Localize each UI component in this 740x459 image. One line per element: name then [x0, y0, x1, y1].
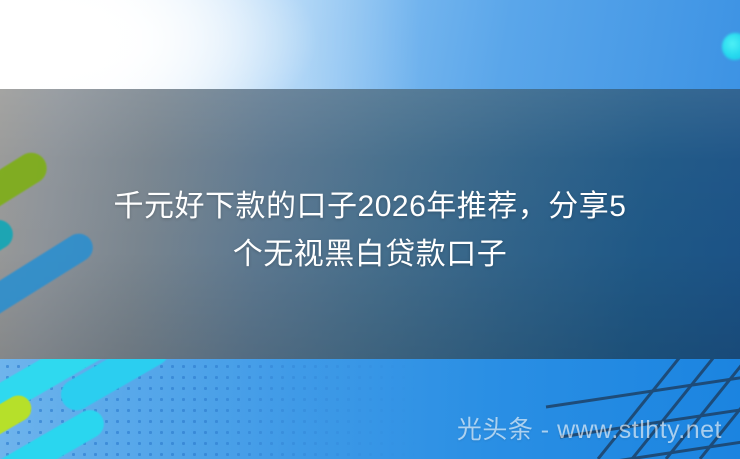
page-title: 千元好下款的口子2026年推荐，分享5 个无视黑白贷款口子 — [0, 183, 740, 279]
sky-glow — [0, 0, 420, 89]
decorative-bars-bottom — [0, 359, 220, 459]
article-cover-image: 千元好下款的口子2026年推荐，分享5 个无视黑白贷款口子 光头条 - www.… — [0, 0, 740, 459]
site-watermark: 光头条 - www.stlhty.net — [457, 415, 722, 445]
sky-band — [0, 0, 740, 89]
cyan-blob-icon — [722, 33, 740, 60]
